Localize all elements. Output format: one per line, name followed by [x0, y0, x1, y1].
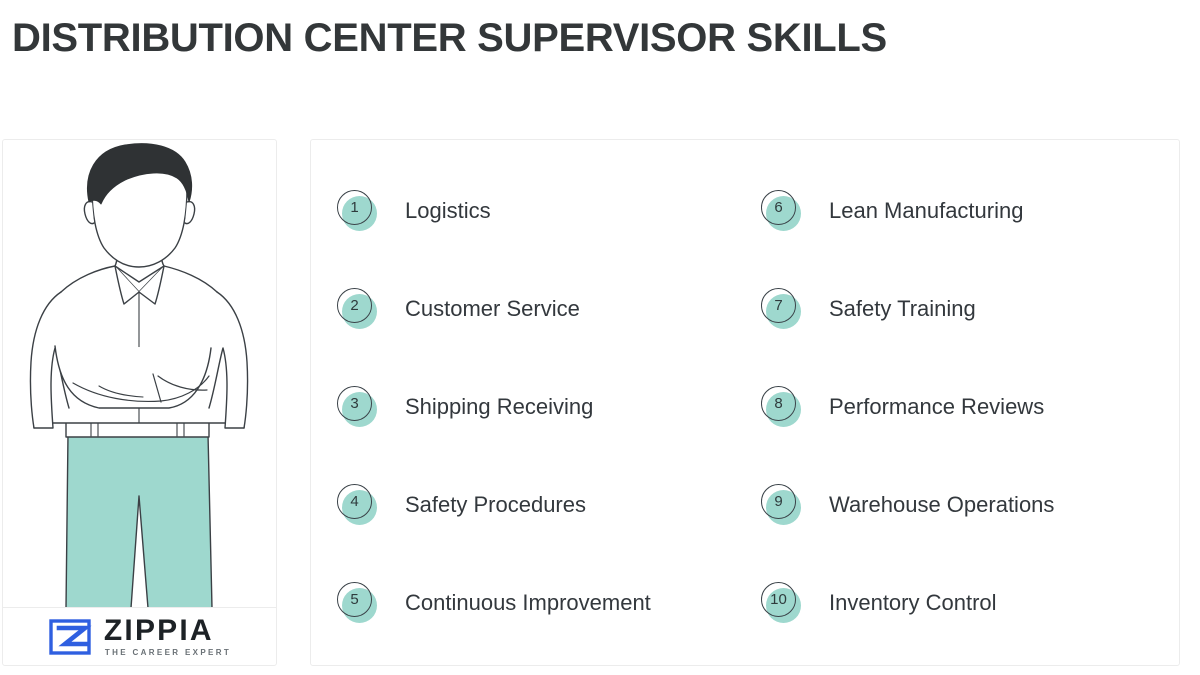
badge-number: 8: [761, 386, 796, 421]
skill-item-1[interactable]: 1 Logistics: [335, 189, 755, 233]
skill-item-3[interactable]: 3 Shipping Receiving: [335, 385, 755, 429]
skill-label-3: Shipping Receiving: [405, 394, 593, 420]
skill-label-9: Warehouse Operations: [829, 492, 1054, 518]
skill-item-6[interactable]: 6 Lean Manufacturing: [759, 189, 1179, 233]
skill-number-badge-6: 6: [759, 189, 803, 233]
skill-number-badge-9: 9: [759, 483, 803, 527]
zippia-tagline: THE CAREER EXPERT: [105, 647, 231, 659]
badge-number: 2: [337, 288, 372, 323]
badge-number: 1: [337, 190, 372, 225]
skill-number-badge-7: 7: [759, 287, 803, 331]
skill-item-8[interactable]: 8 Performance Reviews: [759, 385, 1179, 429]
zippia-wordmark: ZIPPIA: [104, 616, 231, 646]
skill-number-badge-8: 8: [759, 385, 803, 429]
skills-panel: 1 Logistics 2 Customer Service 3 Ship: [310, 139, 1180, 666]
badge-number: 7: [761, 288, 796, 323]
page-title: DISTRIBUTION CENTER SUPERVISOR SKILLS: [12, 14, 1112, 62]
badge-number: 6: [761, 190, 796, 225]
skill-item-9[interactable]: 9 Warehouse Operations: [759, 483, 1179, 527]
zippia-z-mark-icon: [48, 617, 92, 657]
skill-number-badge-5: 5: [335, 581, 379, 625]
skill-label-1: Logistics: [405, 198, 491, 224]
skill-label-5: Continuous Improvement: [405, 590, 651, 616]
skill-item-4[interactable]: 4 Safety Procedures: [335, 483, 755, 527]
skill-item-5[interactable]: 5 Continuous Improvement: [335, 581, 755, 625]
skill-item-7[interactable]: 7 Safety Training: [759, 287, 1179, 331]
illustration-panel: ZIPPIA THE CAREER EXPERT: [2, 139, 277, 666]
skill-label-4: Safety Procedures: [405, 492, 586, 518]
badge-number: 4: [337, 484, 372, 519]
skill-label-10: Inventory Control: [829, 590, 997, 616]
skills-grid: 1 Logistics 2 Customer Service 3 Ship: [311, 140, 1179, 665]
infographic-root: DISTRIBUTION CENTER SUPERVISOR SKILLS: [0, 0, 1200, 675]
skill-label-7: Safety Training: [829, 296, 976, 322]
skill-label-6: Lean Manufacturing: [829, 198, 1023, 224]
badge-number: 10: [761, 582, 796, 617]
skill-number-badge-2: 2: [335, 287, 379, 331]
badge-number: 9: [761, 484, 796, 519]
badge-number: 3: [337, 386, 372, 421]
skill-item-10[interactable]: 10 Inventory Control: [759, 581, 1179, 625]
badge-number: 5: [337, 582, 372, 617]
skill-number-badge-1: 1: [335, 189, 379, 233]
skill-number-badge-3: 3: [335, 385, 379, 429]
supervisor-illustration-icon: [3, 140, 276, 608]
zippia-logo[interactable]: ZIPPIA THE CAREER EXPERT: [3, 608, 276, 666]
skill-label-8: Performance Reviews: [829, 394, 1044, 420]
skill-number-badge-4: 4: [335, 483, 379, 527]
skill-item-2[interactable]: 2 Customer Service: [335, 287, 755, 331]
skill-label-2: Customer Service: [405, 296, 580, 322]
skill-number-badge-10: 10: [759, 581, 803, 625]
